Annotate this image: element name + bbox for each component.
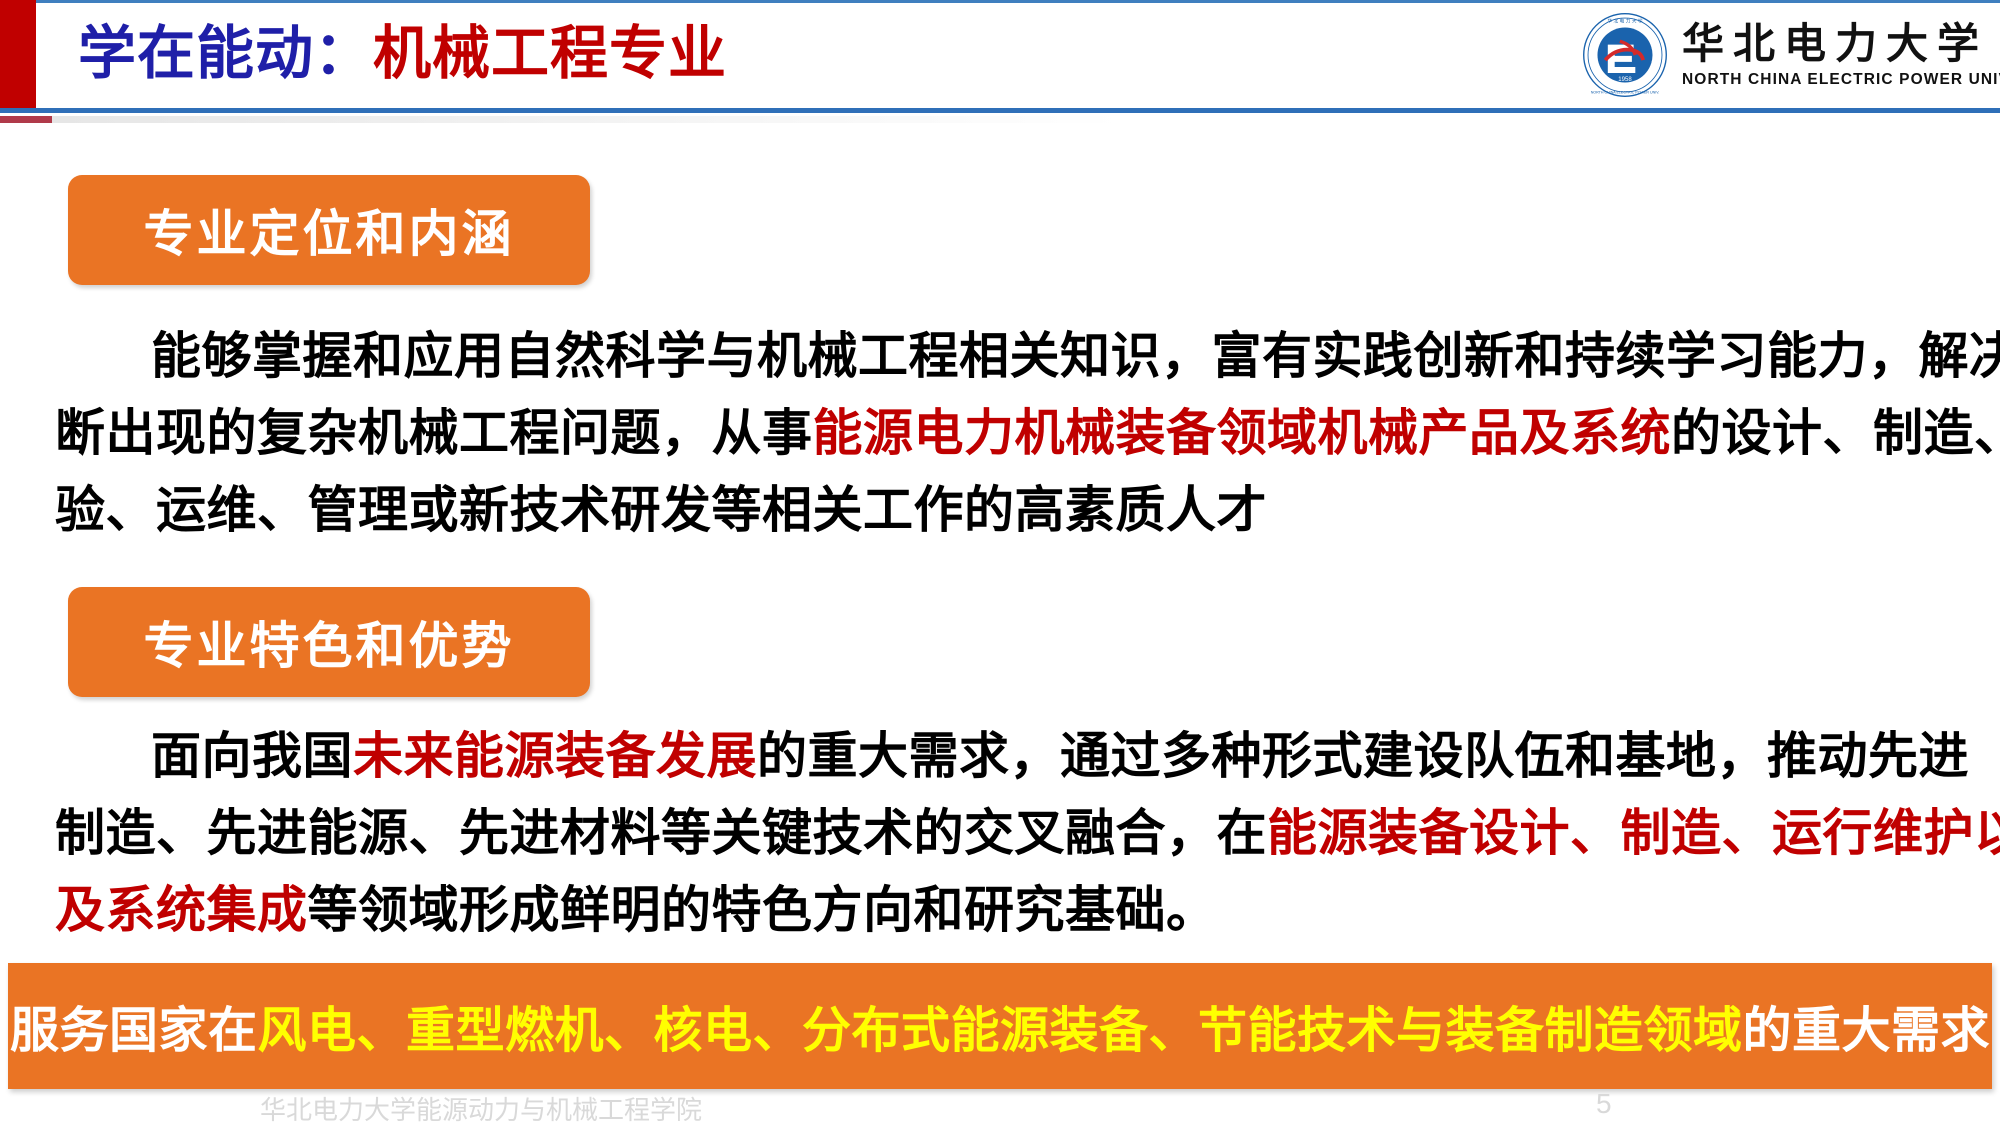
header-red-bar (0, 0, 36, 108)
text-run: 的重大需求 (1743, 1002, 1991, 1059)
slide-root: 学在能动：机械工程专业 1958 华 北 电 力 大 学 NORTH CHINA… (0, 0, 2000, 1125)
svg-text:1958: 1958 (1618, 77, 1632, 83)
university-name-cn: 华北电力大学 (1682, 23, 2000, 65)
section-banner-label: 专业特色和优势 (144, 606, 515, 678)
header-bottom-rule (0, 108, 2000, 113)
section-body-features: 面向我国未来能源装备发展的重大需求，通过多种形式建设队伍和基地，推动先进制造、先… (55, 718, 1960, 949)
footer-page-number: 5 (1596, 1088, 1612, 1120)
university-logo: 1958 华 北 电 力 大 学 NORTH CHINA ELECTRIC PO… (1582, 8, 1982, 102)
page-title-secondary: 机械工程专业 (373, 19, 727, 87)
university-seal-icon: 1958 华 北 电 力 大 学 NORTH CHINA ELECTRIC PO… (1582, 12, 1668, 98)
text-run: 制造、先进能源、先进材料等关键技术的交叉融合，在 (55, 804, 1267, 862)
text-run: 的设计、制造、检 (1671, 404, 2000, 462)
paragraph-line: 验、运维、管理或新技术研发等相关工作的高素质人才 (55, 472, 1960, 549)
university-name-block: 华北电力大学 NORTH CHINA ELECTRIC POWER UNIVER… (1682, 23, 2000, 88)
text-run: 能源电力机械装备领域机械产品及系统 (813, 404, 1672, 462)
page-title: 学在能动：机械工程专业 (78, 16, 727, 90)
header-accent-mark (0, 116, 52, 123)
svg-text:NORTH CHINA ELECTRIC POWER UNI: NORTH CHINA ELECTRIC POWER UNIV. (1591, 91, 1660, 95)
bottom-banner-text: 服务国家在风电、重型燃机、核电、分布式能源装备、节能技术与装备制造领域的重大需求 (10, 991, 1990, 1062)
text-run: 验、运维、管理或新技术研发等相关工作的高素质人才 (55, 481, 1267, 539)
section-banner-label: 专业定位和内涵 (144, 194, 515, 266)
text-run: 断出现的复杂机械工程问题，从事 (55, 404, 813, 462)
paragraph-line: 能够掌握和应用自然科学与机械工程相关知识，富有实践创新和持续学习能力，解决不 (55, 318, 1960, 395)
text-run: 的重大需求，通过多种形式建设队伍和基地，推动先进 (757, 727, 1969, 785)
paragraph-line: 断出现的复杂机械工程问题，从事能源电力机械装备领域机械产品及系统的设计、制造、检 (55, 395, 1960, 472)
text-run: 风电、重型燃机、核电、分布式能源装备、节能技术与装备制造领域 (257, 1002, 1742, 1059)
paragraph-line: 制造、先进能源、先进材料等关键技术的交叉融合，在能源装备设计、制造、运行维护以 (55, 795, 1960, 872)
text-run: 服务国家在 (10, 1002, 258, 1059)
text-run: 未来能源装备发展 (353, 727, 757, 785)
section-body-positioning: 能够掌握和应用自然科学与机械工程相关知识，富有实践创新和持续学习能力，解决不断出… (55, 318, 1960, 549)
footer-note: 华北电力大学能源动力与机械工程学院 (260, 1090, 702, 1125)
text-run: 能够掌握和应用自然科学与机械工程相关知识，富有实践创新和持续学习能力，解决不 (151, 327, 2000, 385)
paragraph-line: 及系统集成等领域形成鲜明的特色方向和研究基础。 (55, 872, 1960, 949)
header-top-rule (36, 0, 2000, 3)
text-run: 能源装备设计、制造、运行维护以 (1267, 804, 2000, 862)
university-name-en: NORTH CHINA ELECTRIC POWER UNIVERSITY (1682, 72, 2000, 88)
paragraph-line: 面向我国未来能源装备发展的重大需求，通过多种形式建设队伍和基地，推动先进 (55, 718, 1960, 795)
text-run: 及系统集成 (55, 881, 308, 939)
text-run: 等领域形成鲜明的特色方向和研究基础。 (308, 881, 1217, 939)
page-title-primary: 学在能动： (78, 19, 373, 87)
section-banner-positioning: 专业定位和内涵 (68, 175, 590, 285)
text-run: 面向我国 (151, 727, 353, 785)
bottom-highlight-banner: 服务国家在风电、重型燃机、核电、分布式能源装备、节能技术与装备制造领域的重大需求 (8, 963, 1992, 1089)
header-accent-fade (52, 116, 2000, 123)
slide-header: 学在能动：机械工程专业 1958 华 北 电 力 大 学 NORTH CHINA… (0, 0, 2000, 112)
section-banner-features: 专业特色和优势 (68, 587, 590, 697)
